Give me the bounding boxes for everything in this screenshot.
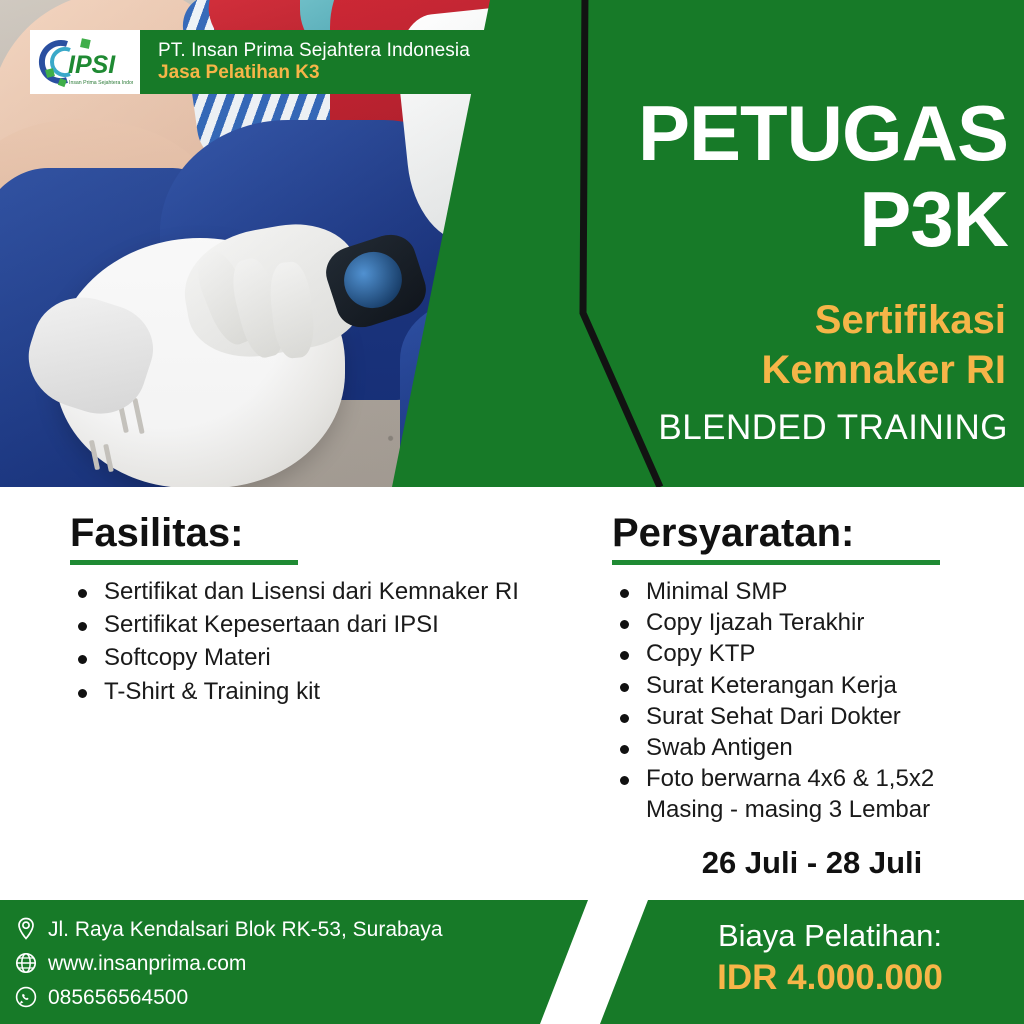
- contact-whatsapp[interactable]: 085656564500: [48, 987, 188, 1008]
- location-pin-icon: [14, 917, 38, 941]
- contact-address: Jl. Raya Kendalsari Blok RK-53, Surabaya: [48, 919, 443, 940]
- service-line: Jasa Pelatihan K3: [158, 62, 508, 85]
- hero-title-line2: P3K: [859, 182, 1008, 256]
- list-item: Sertifikat Kepesertaan dari IPSI: [70, 610, 540, 640]
- list-item: Minimal SMP: [612, 577, 1012, 607]
- price-label: Biaya Pelatihan:: [660, 918, 1000, 955]
- list-item: T-Shirt & Training kit: [70, 677, 540, 707]
- hero-subtitle-line1: Sertifikasi: [815, 298, 1006, 343]
- facilities-underline: [70, 560, 298, 565]
- contact-website[interactable]: www.insanprima.com: [48, 953, 246, 974]
- facilities-list: Sertifikat dan Lisensi dari Kemnaker RI …: [70, 577, 540, 707]
- facilities-section: Fasilitas: Sertifikat dan Lisensi dari K…: [70, 512, 540, 710]
- hero-title-line1: PETUGAS: [638, 96, 1008, 170]
- brand-header-bar: IPSI Insan Prima Sejahtera Indonesia PT.…: [30, 30, 530, 94]
- list-item: Surat Sehat Dari Dokter: [612, 702, 1012, 732]
- requirements-section: Persyaratan: Minimal SMP Copy Ijazah Ter…: [612, 512, 1012, 826]
- price-panel: Biaya Pelatihan: IDR 4.000.000: [600, 900, 1024, 1024]
- poster-root: IPSI Insan Prima Sejahtera Indonesia PT.…: [0, 0, 1024, 1024]
- list-item: Foto berwarna 4x6 & 1,5x2 Masing - masin…: [612, 764, 1012, 824]
- list-item: Swab Antigen: [612, 733, 1012, 763]
- requirements-heading: Persyaratan:: [612, 512, 1012, 554]
- facilities-heading: Fasilitas:: [70, 512, 540, 554]
- schedule-dates: 26 Juli - 28 Juli: [612, 845, 1012, 881]
- list-item: Copy Ijazah Terakhir: [612, 608, 1012, 638]
- ipsi-logo: IPSI Insan Prima Sejahtera Indonesia: [30, 30, 140, 94]
- price-block: Biaya Pelatihan: IDR 4.000.000: [660, 918, 1000, 999]
- price-value: IDR 4.000.000: [660, 957, 1000, 999]
- whatsapp-icon: [14, 985, 38, 1009]
- contact-address-row: Jl. Raya Kendalsari Blok RK-53, Surabaya: [14, 914, 443, 944]
- hero-subtitle-line2: Kemnaker RI: [761, 348, 1006, 393]
- requirements-underline: [612, 560, 940, 565]
- contact-list: Jl. Raya Kendalsari Blok RK-53, Surabaya…: [14, 914, 443, 1016]
- list-item: Copy KTP: [612, 639, 1012, 669]
- svg-text:Insan Prima Sejahtera Indonesi: Insan Prima Sejahtera Indonesia: [69, 80, 133, 86]
- requirements-list: Minimal SMP Copy Ijazah Terakhir Copy KT…: [612, 577, 1012, 825]
- contact-website-row[interactable]: www.insanprima.com: [14, 948, 443, 978]
- hero-training-mode: BLENDED TRAINING: [658, 408, 1008, 447]
- globe-icon: [14, 951, 38, 975]
- contact-whatsapp-row[interactable]: 085656564500: [14, 982, 443, 1012]
- contact-panel: Jl. Raya Kendalsari Blok RK-53, Surabaya…: [0, 900, 588, 1024]
- company-name: PT. Insan Prima Sejahtera Indonesia: [158, 40, 508, 62]
- svg-text:IPSI: IPSI: [68, 51, 116, 79]
- list-item: Softcopy Materi: [70, 643, 540, 673]
- hero-section: IPSI Insan Prima Sejahtera Indonesia PT.…: [0, 0, 1024, 487]
- ipsi-logo-mark: IPSI Insan Prima Sejahtera Indonesia: [37, 35, 133, 89]
- brand-header-text: PT. Insan Prima Sejahtera Indonesia Jasa…: [140, 30, 530, 94]
- list-item: Sertifikat dan Lisensi dari Kemnaker RI: [70, 577, 540, 607]
- list-item: Surat Keterangan Kerja: [612, 671, 1012, 701]
